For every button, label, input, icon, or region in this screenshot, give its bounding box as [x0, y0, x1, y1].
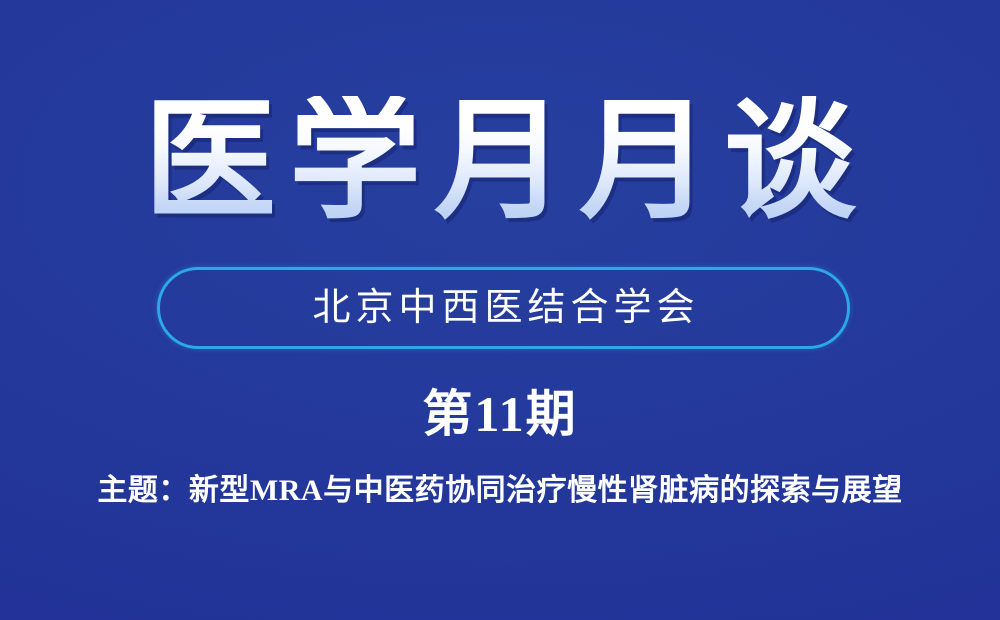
organization-pill: 北京中西医结合学会 — [157, 267, 850, 349]
title-block: 医学月月谈 — [0, 96, 1000, 228]
page-title: 医学月月谈 — [131, 96, 869, 228]
subject-line: 主题：新型MRA与中医药协同治疗慢性肾脏病的探索与展望 — [0, 472, 1000, 510]
poster-canvas: 医学月月谈 北京中西医结合学会 第11期 主题：新型MRA与中医药协同治疗慢性肾… — [0, 0, 1000, 620]
issue-number: 第11期 — [0, 386, 1000, 444]
organization-name: 北京中西医结合学会 — [307, 289, 699, 327]
